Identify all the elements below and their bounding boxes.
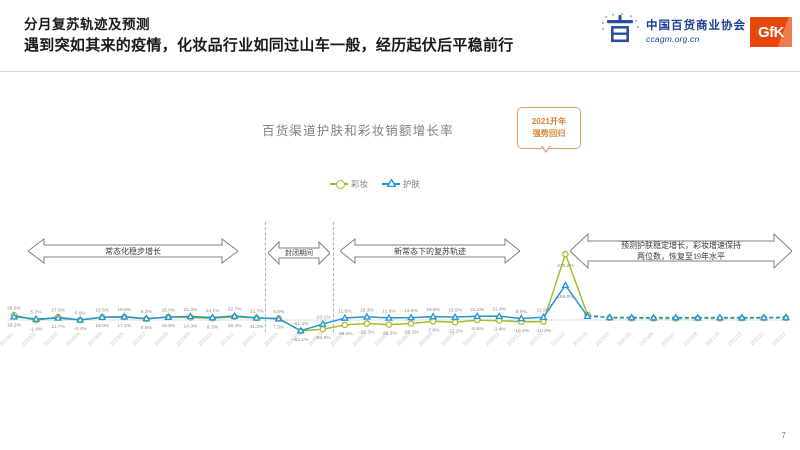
- data-point-marker: [430, 314, 436, 319]
- x-axis-tick-label: 201904: [65, 331, 82, 348]
- x-axis-tick-label: 202107: [661, 331, 678, 348]
- association-url: ccagm.org.cn: [646, 35, 746, 44]
- x-axis-tick-label: 202104: [594, 331, 611, 348]
- x-axis-tick-label: 202010: [462, 331, 479, 348]
- data-point-marker: [453, 320, 458, 325]
- data-point-marker: [717, 315, 723, 320]
- data-point-label-makeup: -62.1%: [293, 337, 309, 343]
- data-point-label-makeup: -20.3%: [359, 330, 375, 336]
- data-point-marker: [320, 321, 326, 326]
- data-point-label-skincare: 11.6%: [338, 308, 352, 314]
- data-point-marker: [563, 252, 568, 257]
- series-forecast-line-护肤: [587, 316, 786, 318]
- x-axis-tick-label: 202111: [749, 331, 765, 347]
- data-point-label-skincare: 18.3%: [360, 307, 375, 313]
- data-point-label-skincare: 13.9%: [404, 308, 419, 314]
- data-point-label-makeup: -52.6%: [315, 335, 331, 341]
- data-point-label-skincare: 199.0%: [557, 294, 574, 300]
- data-point-label-skincare: 8.9%: [516, 309, 528, 315]
- data-point-label-makeup: -28.2%: [337, 331, 353, 337]
- data-point-label-makeup: 16.5%: [95, 308, 110, 314]
- data-point-label-makeup: 8.8%: [273, 309, 285, 315]
- page-title: 分月复苏轨迹及预测: [24, 16, 514, 33]
- title-block: 分月复苏轨迹及预测 遇到突如其来的疫情，化妆品行业如同过山车一般，经历起伏后平稳…: [24, 16, 514, 56]
- data-point-label-skincare: 16.0%: [95, 323, 110, 329]
- data-point-marker: [761, 315, 767, 320]
- data-point-marker: [629, 315, 635, 320]
- data-point-label-skincare: -23.1%: [315, 315, 331, 321]
- data-point-marker: [364, 314, 370, 319]
- x-axis-tick-label: 202008: [418, 331, 435, 348]
- x-axis-tick-label: 201903: [43, 331, 60, 348]
- data-point-label-skincare: 16.9%: [448, 308, 463, 314]
- data-point-marker: [188, 313, 194, 318]
- x-axis-tick-label: 202011: [484, 331, 500, 347]
- data-point-label-makeup: -10.2%: [514, 328, 530, 334]
- data-point-label-makeup: -10.3%: [536, 328, 552, 334]
- x-axis-tick-label: 201908: [153, 331, 170, 348]
- page-subtitle: 遇到突如其来的疫情，化妆品行业如同过山车一般，经历起伏后平稳前行: [24, 35, 514, 56]
- data-point-label-skincare: 21.8%: [492, 307, 507, 313]
- data-point-marker: [320, 327, 325, 332]
- data-point-label-skincare: 14.1%: [206, 308, 221, 314]
- data-point-marker: [452, 314, 458, 319]
- x-axis-tick-label: 202112: [771, 331, 787, 347]
- data-point-marker: [386, 315, 392, 320]
- x-axis-tick-label: 202001: [264, 331, 281, 348]
- data-point-marker: [232, 313, 238, 318]
- data-point-label-makeup: 17.2%: [117, 323, 132, 329]
- data-point-marker: [342, 322, 347, 327]
- association-logo-text: 中国百货商业协会 ccagm.org.cn: [646, 21, 746, 43]
- data-point-label-skincare: 18.8%: [117, 307, 132, 313]
- data-point-label-skincare: 16.5%: [161, 323, 176, 329]
- bai-logo-icon: [598, 13, 642, 51]
- data-point-label-makeup: 376.2%: [557, 263, 574, 269]
- data-point-label-makeup: -7.8%: [427, 327, 440, 333]
- data-point-label-makeup: 5.8%: [141, 325, 153, 331]
- data-point-label-skincare: 5.7%: [30, 310, 42, 316]
- data-point-marker: [210, 315, 216, 320]
- data-point-label-skincare: 22.7%: [228, 307, 243, 313]
- logo-group: 中国百货商业协会 ccagm.org.cn GfK: [598, 12, 792, 52]
- x-axis-tick-label: 201912: [242, 331, 259, 348]
- x-axis-tick-label: 201905: [87, 331, 104, 348]
- data-point-label-makeup: 17.9%: [51, 307, 66, 313]
- data-point-marker: [143, 316, 149, 321]
- data-point-label-skincare: 19.5%: [426, 307, 441, 313]
- data-point-marker: [783, 314, 789, 319]
- data-point-marker: [651, 315, 657, 320]
- data-point-label-makeup: 9.3%: [207, 324, 219, 330]
- data-point-label-skincare: 15.8%: [536, 308, 551, 314]
- data-point-label-skincare: 21.0%: [184, 307, 199, 313]
- data-point-marker: [607, 314, 613, 319]
- x-axis-tick-label: 202103: [572, 331, 589, 348]
- data-point-label-skincare: 8.2%: [141, 309, 153, 315]
- x-axis-tick-label: 201909: [175, 331, 192, 348]
- data-point-marker: [408, 321, 413, 326]
- data-point-marker: [496, 313, 502, 318]
- data-point-label-skincare: 0.6%: [75, 310, 87, 316]
- x-axis-tick-label: 201907: [131, 331, 148, 348]
- data-point-marker: [695, 315, 701, 320]
- x-axis-tick-label: 201902: [21, 331, 38, 348]
- data-point-label-skincare: 19.2%: [7, 323, 22, 329]
- data-point-label-skincare: 11.7%: [51, 324, 65, 330]
- slide-header: 分月复苏轨迹及预测 遇到突如其来的疫情，化妆品行业如同过山车一般，经历起伏后平稳…: [0, 0, 800, 72]
- data-point-label-skincare: 11.9%: [382, 308, 396, 314]
- x-axis-tick-label: 202109: [705, 331, 722, 348]
- page-number: 7: [782, 431, 786, 440]
- data-point-label-skincare: 7.3%: [273, 325, 285, 331]
- data-point-label-skincare: 12.7%: [250, 308, 265, 314]
- data-point-marker: [673, 315, 679, 320]
- data-point-marker: [474, 313, 480, 318]
- x-axis-tick-label: 202102: [550, 331, 567, 348]
- gfk-logo-label: GfK: [758, 24, 784, 41]
- data-point-label-skincare: -61.4%: [293, 321, 309, 327]
- data-point-label-makeup: 14.3%: [184, 323, 199, 329]
- data-point-label-makeup: 18.0%: [161, 307, 176, 313]
- data-point-label-makeup: -3.4%: [493, 327, 506, 333]
- slide: 分月复苏轨迹及预测 遇到突如其来的疫情，化妆品行业如同过山车一般，经历起伏后平稳…: [0, 0, 800, 450]
- x-axis-tick-label: 201906: [109, 331, 126, 348]
- data-point-label-makeup: 11.2%: [250, 324, 264, 330]
- data-point-marker: [408, 315, 414, 320]
- data-point-label-makeup: 28.6%: [7, 305, 22, 311]
- x-axis-tick-label: 201911: [220, 331, 236, 347]
- x-axis-tick-label: 202105: [617, 331, 634, 348]
- data-point-label-makeup: -1.9%: [30, 326, 43, 332]
- data-point-marker: [430, 319, 435, 324]
- data-point-marker: [342, 315, 348, 320]
- data-point-label-makeup: -20.1%: [403, 330, 419, 336]
- data-point-marker: [563, 282, 569, 287]
- data-point-marker: [518, 316, 524, 321]
- x-axis-tick-label: 201910: [197, 331, 214, 348]
- data-point-marker: [364, 321, 369, 326]
- data-point-label-skincare: 21.4%: [470, 307, 485, 313]
- data-point-label-makeup: -0.4%: [74, 326, 87, 332]
- data-point-marker: [33, 316, 39, 321]
- data-point-label-makeup: -0.6%: [471, 326, 484, 332]
- x-axis-tick-label: 202108: [683, 331, 700, 348]
- gfk-logo: GfK: [750, 17, 792, 47]
- association-name: 中国百货商业协会: [646, 21, 746, 33]
- x-axis-tick-label: 201901: [0, 331, 15, 348]
- chart-plot-area: 2019012019022019032019042019052019062019…: [0, 95, 800, 385]
- data-point-label-makeup: -26.3%: [381, 331, 397, 337]
- x-axis-tick-label: 202110: [727, 331, 743, 347]
- data-point-label-makeup: 18.4%: [228, 323, 243, 329]
- data-point-label-makeup: -13.2%: [447, 328, 463, 334]
- data-point-marker: [386, 322, 391, 327]
- data-point-marker: [739, 315, 745, 320]
- header-divider: [0, 71, 800, 72]
- x-axis-tick-label: 202106: [639, 331, 656, 348]
